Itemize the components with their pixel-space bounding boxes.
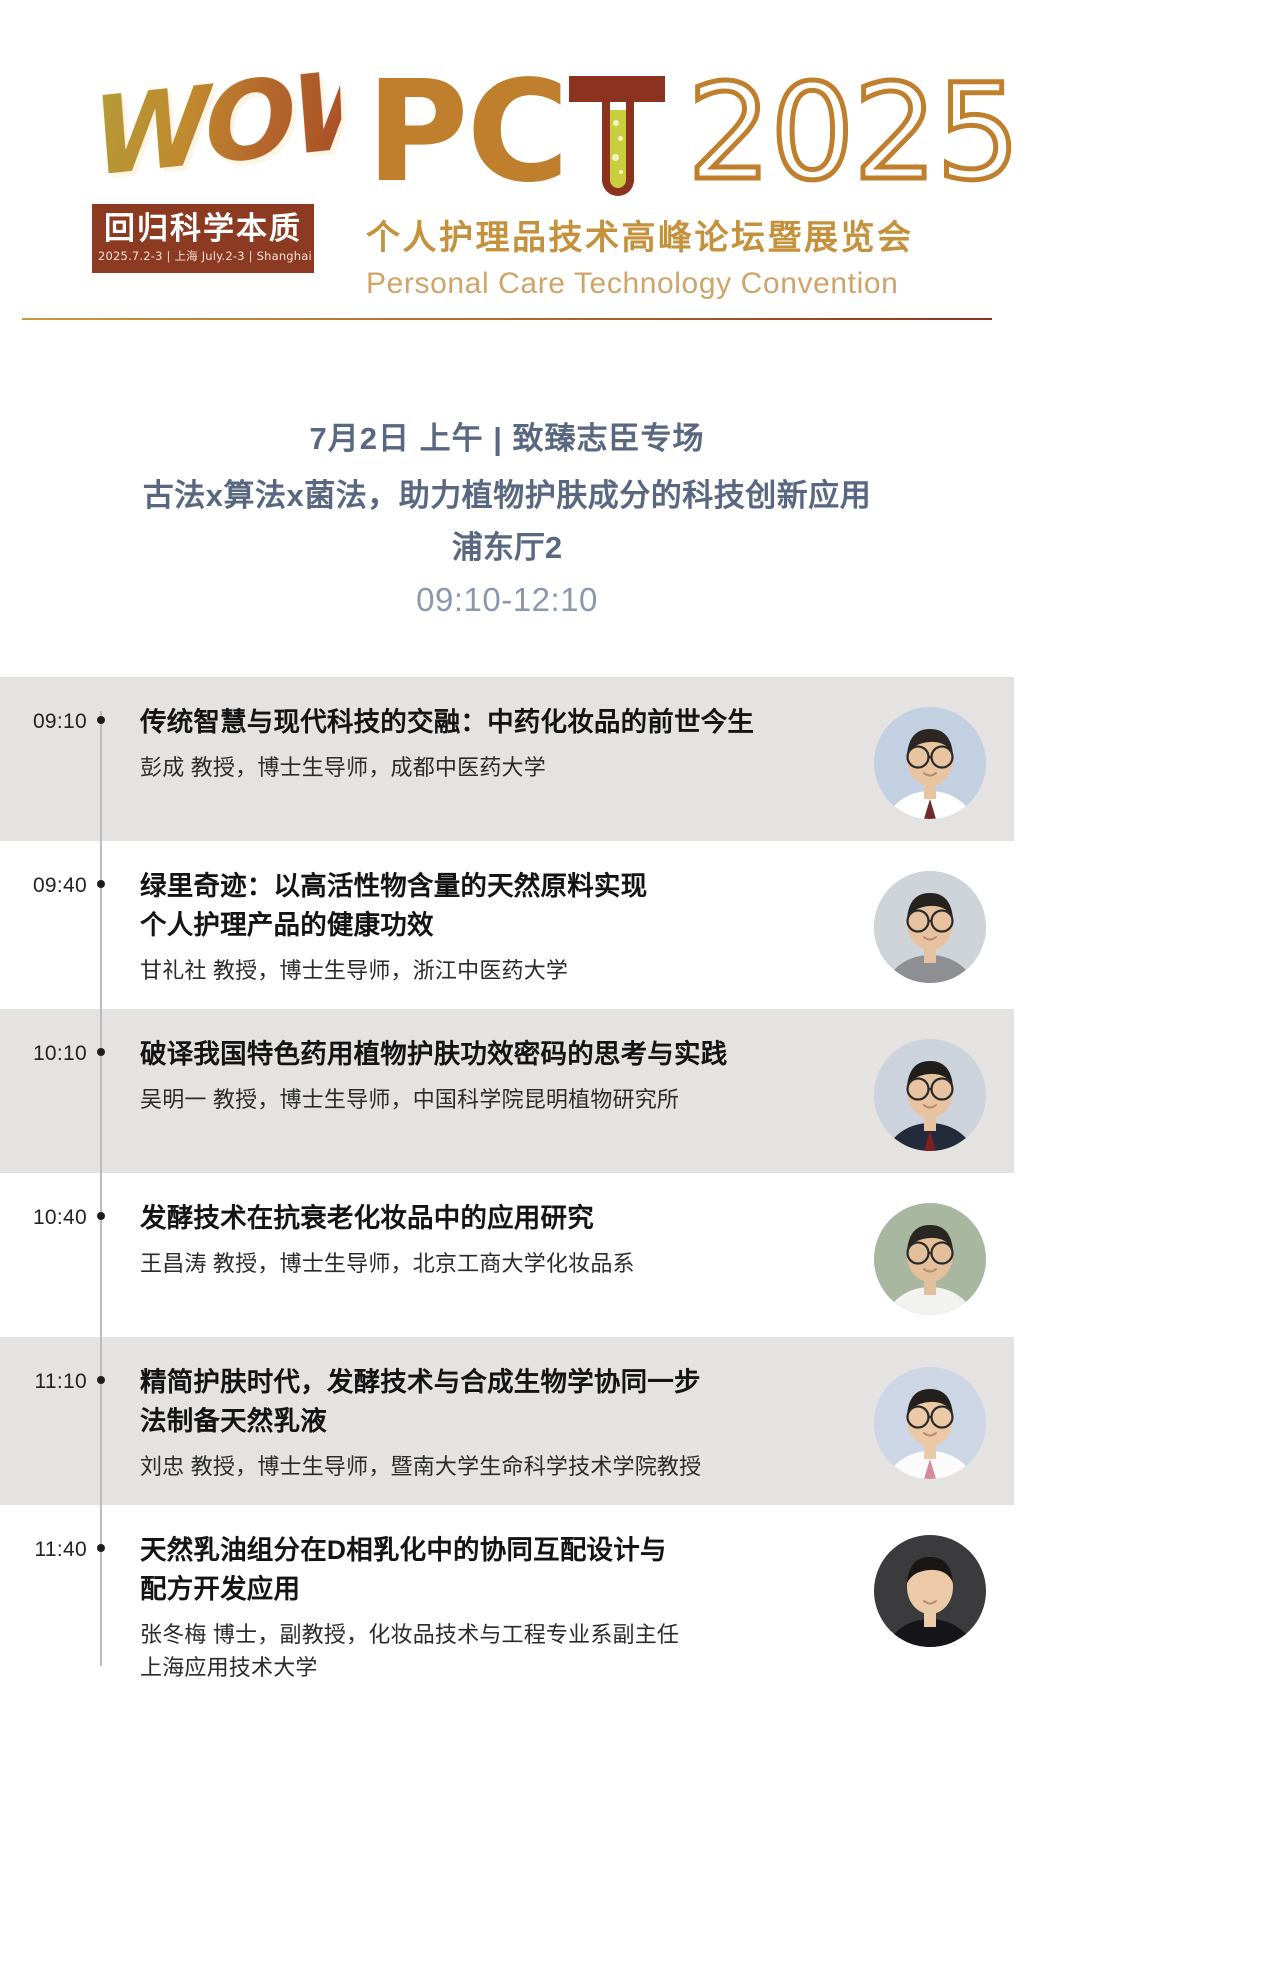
agenda-row[interactable]: 11:40天然乳油组分在D相乳化中的协同互配设计与 配方开发应用张冬梅 博士，副… (0, 1505, 1014, 1706)
convention-title-en: Personal Care Technology Convention (366, 267, 1019, 301)
agenda-row-time: 11:40 (0, 1531, 100, 1565)
agenda-row-time: 11:10 (0, 1363, 100, 1397)
agenda-row-title: 破译我国特色药用植物护肤功效密码的思考与实践 (140, 1035, 852, 1074)
session-room: 浦东厅2 (40, 525, 974, 571)
pct-wordmark: PC (366, 58, 665, 208)
timeline-rail (100, 711, 102, 1666)
agenda-row[interactable]: 09:10传统智慧与现代科技的交融：中药化妆品的前世今生彭成 教授，博士生导师，… (0, 677, 1014, 841)
header-divider (22, 318, 992, 320)
agenda-row-speaker: 彭成 教授，博士生导师，成都中医药大学 (140, 751, 852, 784)
speaker-avatar (874, 1039, 986, 1151)
agenda-row-title: 精简护肤时代，发酵技术与合成生物学协同一步 法制备天然乳液 (140, 1363, 852, 1441)
wow-logo-lockup: WOW! 回归科学本质 2025.7.2-3 | 上海 July.2-3 | S… (92, 52, 342, 273)
agenda-row-speaker: 吴明一 教授，博士生导师，中国科学院昆明植物研究所 (140, 1083, 852, 1116)
wow-logo-text: WOW! (90, 53, 343, 211)
session-time-range: 09:10-12:10 (40, 581, 974, 619)
speaker-avatar (874, 871, 986, 983)
session-date-track: 7月2日 上午 | 致臻志臣专场 (40, 417, 974, 461)
speaker-avatar (874, 1535, 986, 1647)
session-header: 7月2日 上午 | 致臻志臣专场 古法x算法x菌法，助力植物护肤成分的科技创新应… (0, 365, 1014, 659)
agenda-row-title: 天然乳油组分在D相乳化中的协同互配设计与 配方开发应用 (140, 1531, 852, 1609)
event-theme-badge: 回归科学本质 2025.7.2-3 | 上海 July.2-3 | Shangh… (92, 204, 314, 273)
badge-theme-label: 回归科学本质 (98, 211, 308, 247)
agenda-row-title: 发酵技术在抗衰老化妆品中的应用研究 (140, 1199, 852, 1238)
agenda-row-time: 10:10 (0, 1035, 100, 1069)
convention-title-cn: 个人护理品技术高峰论坛暨展览会 (366, 210, 1019, 259)
agenda-row[interactable]: 11:10精简护肤时代，发酵技术与合成生物学协同一步 法制备天然乳液刘忠 教授，… (0, 1337, 1014, 1505)
speaker-avatar (874, 707, 986, 819)
agenda-row[interactable]: 10:40发酵技术在抗衰老化妆品中的应用研究王昌涛 教授，博士生导师，北京工商大… (0, 1173, 1014, 1337)
test-tube-t-icon (569, 58, 665, 208)
session-topic: 古法x算法x菌法，助力植物护肤成分的科技创新应用 (40, 471, 974, 521)
agenda-row[interactable]: 10:10破译我国特色药用植物护肤功效密码的思考与实践吴明一 教授，博士生导师，… (0, 1009, 1014, 1173)
agenda-row-speaker: 甘礼社 教授，博士生导师，浙江中医药大学 (140, 954, 852, 987)
agenda-row-speaker: 王昌涛 教授，博士生导师，北京工商大学化妆品系 (140, 1247, 852, 1280)
poster-header: WOW! 回归科学本质 2025.7.2-3 | 上海 July.2-3 | S… (0, 0, 1014, 365)
agenda-row-time: 10:40 (0, 1199, 100, 1233)
badge-dates-label: 2025.7.2-3 | 上海 July.2-3 | Shanghai (98, 247, 308, 265)
agenda-row-title: 绿里奇迹：以高活性物含量的天然原料实现 个人护理产品的健康功效 (140, 867, 852, 945)
speaker-avatar (874, 1203, 986, 1315)
speaker-avatar (874, 1367, 986, 1479)
agenda-row-speaker: 刘忠 教授，博士生导师，暨南大学生命科学技术学院教授 (140, 1450, 852, 1483)
agenda-row[interactable]: 09:40绿里奇迹：以高活性物含量的天然原料实现 个人护理产品的健康功效甘礼社 … (0, 841, 1014, 1009)
pct-logo-lockup: PC 2025 个人护理品技术高峰论坛暨展览会 Personal Care Te… (342, 52, 1019, 301)
pct-year: 2025 (687, 58, 1019, 208)
agenda-row-time: 09:40 (0, 867, 100, 901)
agenda-row-speaker: 张冬梅 博士，副教授，化妆品技术与工程专业系副主任 上海应用技术大学 (140, 1618, 852, 1684)
pct-letters-pc: PC (366, 58, 567, 208)
agenda-row-title: 传统智慧与现代科技的交融：中药化妆品的前世今生 (140, 703, 852, 742)
agenda-row-time: 09:10 (0, 703, 100, 737)
agenda-list: 09:10传统智慧与现代科技的交融：中药化妆品的前世今生彭成 教授，博士生导师，… (0, 677, 1014, 1706)
